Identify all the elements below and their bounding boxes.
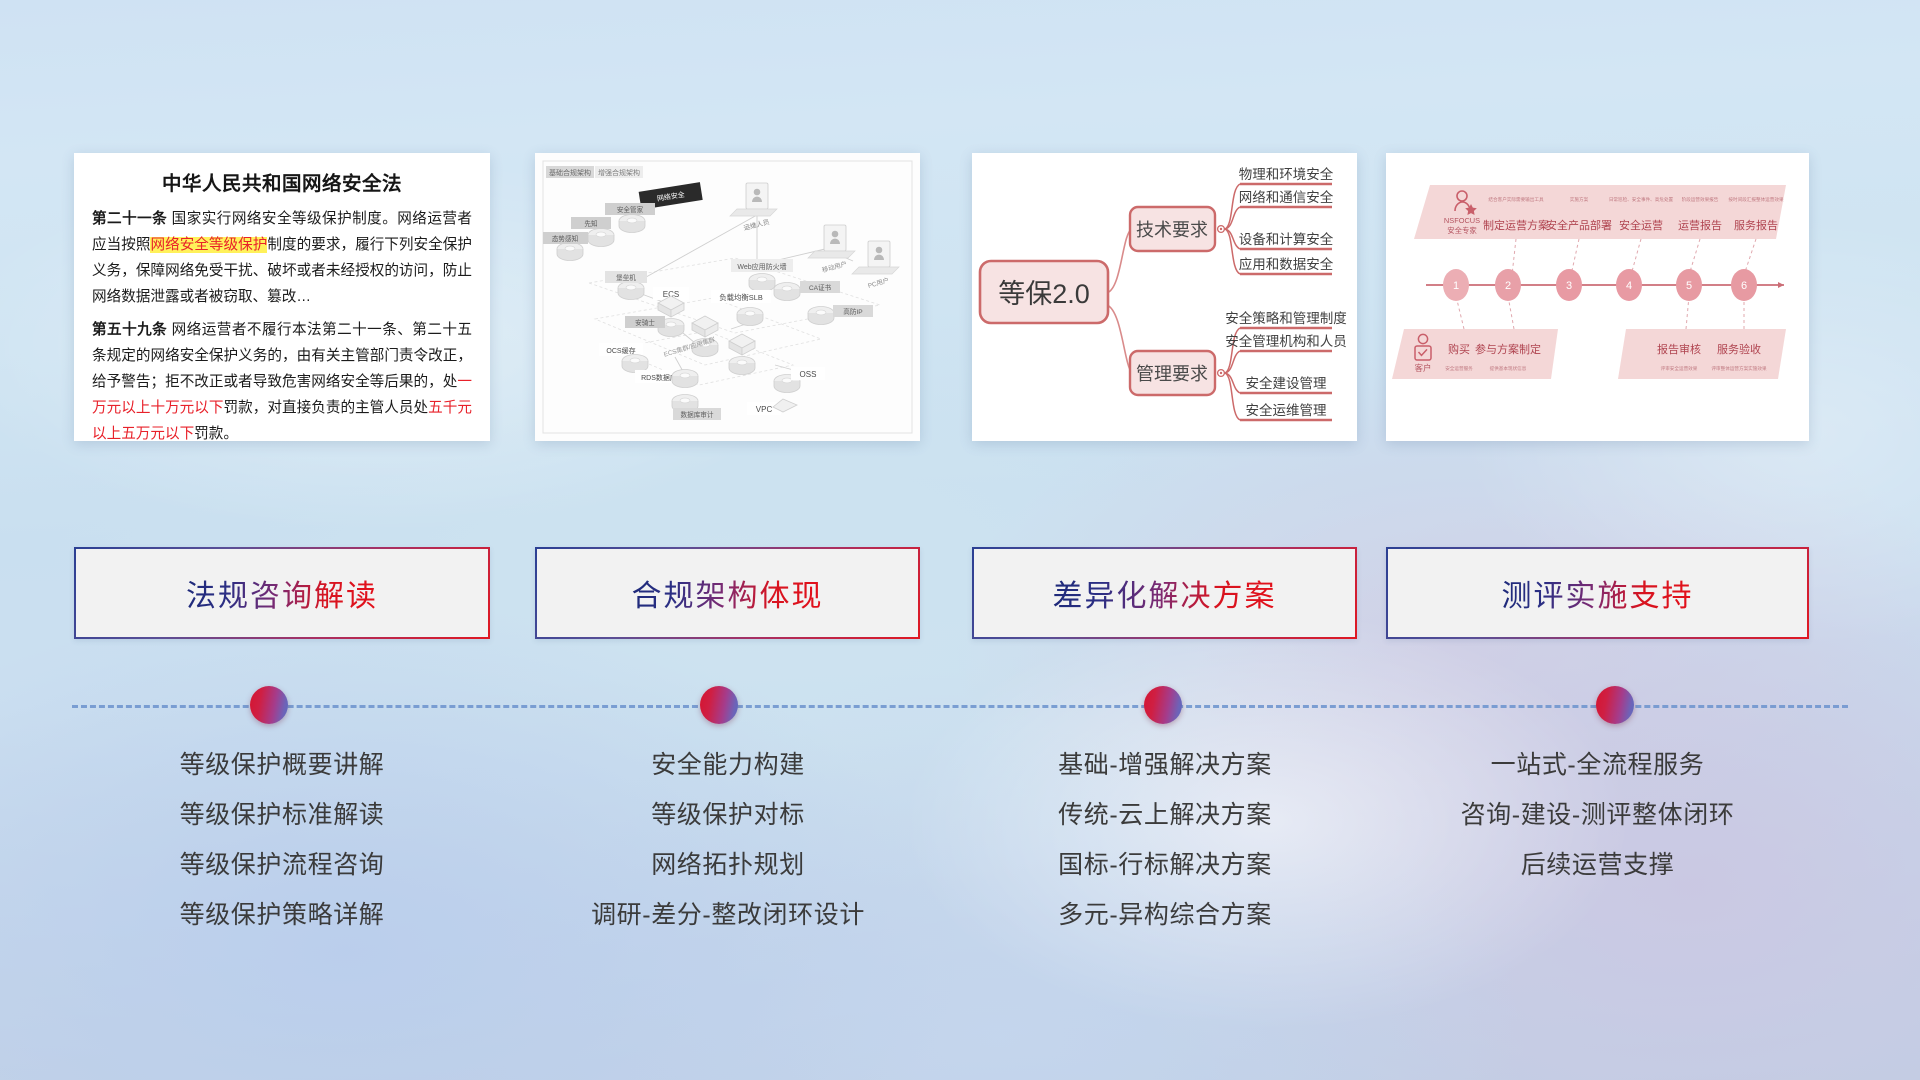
article-59-text-after: 罚款。 xyxy=(194,426,238,441)
list-item: 网络拓扑规划 xyxy=(508,840,948,890)
law-article-59: 第五十九条 网络运营者不履行本法第二十一条、第二十五条规定的网络安全保护义务的，… xyxy=(92,318,472,441)
card-mindmap-dengbao[interactable]: 等保2.0 技术要求 xyxy=(972,153,1357,441)
mindmap-leaf-tech-1: 物理和环境安全 xyxy=(1239,166,1334,182)
process-step5-number: 5 xyxy=(1686,280,1692,292)
mindmap-leaf-tech-2: 网络和通信安全 xyxy=(1239,189,1334,205)
process-step4-sub: 日常巡检、安全事件、高危处置 xyxy=(1609,196,1674,203)
section-titles-row: 法规咨询解读 合规架构体现 差异化解决方案 测评实施支持 xyxy=(0,547,1920,644)
article-21-label: 第二十一条 xyxy=(92,211,167,227)
mindmap-root-label: 等保2.0 xyxy=(998,279,1090,309)
list-item: 后续运营支撑 xyxy=(1386,840,1809,890)
evidence-cards-row: 中华人民共和国网络安全法 第二十一条 国家实行网络安全等级保护制度。网络运营者应… xyxy=(0,153,1920,443)
process-bottom4-sub: 评审整体运营方案实施效果 xyxy=(1711,365,1767,372)
mindmap-leaf-tech-3: 设备和计算安全 xyxy=(1239,231,1334,247)
list-item: 传统-云上解决方案 xyxy=(960,790,1370,840)
title-box-differentiated-solution[interactable]: 差异化解决方案 xyxy=(972,547,1357,639)
list-item: 多元-异构综合方案 xyxy=(960,890,1370,940)
timeline xyxy=(0,683,1920,729)
process-bottom1-title: 购买 xyxy=(1448,342,1470,356)
list-item: 等级保护策略详解 xyxy=(74,890,490,940)
process-diagram: NSFOCUS 安全专家 客户 制定运营方案 安全产品部署 安全运营 运营报告 … xyxy=(1386,153,1809,441)
process-step2-number: 2 xyxy=(1505,280,1511,292)
process-bottom3-sub: 评审安全运营效果 xyxy=(1661,365,1698,372)
feature-list-2: 安全能力构建 等级保护对标 网络拓扑规划 调研-差分-整改闭环设计 xyxy=(508,740,948,940)
process-step6-sub: 按时间段汇报整体运营效果 xyxy=(1728,196,1784,203)
process-step4-title: 安全运营 xyxy=(1619,218,1663,232)
mindmap-leaf-mgmt-2: 安全管理机构和人员 xyxy=(1225,333,1347,349)
timeline-dot-1[interactable] xyxy=(250,686,288,724)
list-item: 等级保护概要讲解 xyxy=(74,740,490,790)
process-step1-number: 1 xyxy=(1453,280,1459,292)
process-bottom3-title: 报告审核 xyxy=(1657,342,1701,356)
mindmap-leaf-mgmt-4: 安全运维管理 xyxy=(1246,402,1327,418)
process-step3-sub: 实施方案 xyxy=(1570,196,1589,203)
mindmap-branch-management-label: 管理要求 xyxy=(1136,364,1208,384)
mindmap-leaf-tech-4: 应用和数据安全 xyxy=(1239,256,1334,272)
title-label-4: 测评实施支持 xyxy=(1502,571,1694,615)
article-59-text-middle: 罚款，对直接负责的主管人员处 xyxy=(224,400,429,416)
process-bottom1-sub: 安全运营服务 xyxy=(1445,365,1473,372)
arch-node-waf: Web应用防火墙 xyxy=(737,262,786,271)
arch-node-security-butler: 安全管家 xyxy=(617,205,644,214)
arch-node-bastion: 堡垒机 xyxy=(616,273,636,282)
mindmap-leaf-mgmt-3: 安全建设管理 xyxy=(1246,375,1327,391)
arch-node-db-audit: 数据库审计 xyxy=(681,410,714,419)
law-article-21: 第二十一条 国家实行网络安全等级保护制度。网络运营者应当按照网络安全等级保护制度… xyxy=(92,207,472,311)
article-21-highlight: 网络安全等级保护 xyxy=(150,237,267,253)
arch-node-slb: 负载均衡SLB xyxy=(719,293,763,302)
law-title: 中华人民共和国网络安全法 xyxy=(92,167,472,196)
list-item: 调研-差分-整改闭环设计 xyxy=(508,890,948,940)
list-item: 等级保护流程咨询 xyxy=(74,840,490,890)
title-box-regulation-consulting[interactable]: 法规咨询解读 xyxy=(74,547,490,639)
process-bottom2-sub: 提供基本现状信息 xyxy=(1490,365,1527,372)
feature-list-4: 一站式-全流程服务 咨询-建设-测评整体闭环 后续运营支撑 xyxy=(1386,740,1809,890)
feature-list-3: 基础-增强解决方案 传统-云上解决方案 国标-行标解决方案 多元-异构综合方案 xyxy=(960,740,1370,940)
feature-lists-row: 等级保护概要讲解 等级保护标准解读 等级保护流程咨询 等级保护策略详解 安全能力… xyxy=(0,740,1920,970)
article-59-label: 第五十九条 xyxy=(92,322,167,338)
process-step3-title: 安全产品部署 xyxy=(1546,218,1612,232)
process-step6-title: 服务报告 xyxy=(1734,218,1778,232)
mindmap-leaf-mgmt-1: 安全策略和管理制度 xyxy=(1225,310,1347,326)
feature-list-1: 等级保护概要讲解 等级保护标准解读 等级保护流程咨询 等级保护策略详解 xyxy=(74,740,490,940)
title-label-3: 差异化解决方案 xyxy=(1053,571,1277,615)
process-step6-number: 6 xyxy=(1741,280,1747,292)
title-label-1: 法规咨询解读 xyxy=(186,571,378,615)
mindmap-branch-technical-label: 技术要求 xyxy=(1136,220,1208,240)
list-item: 咨询-建设-测评整体闭环 xyxy=(1386,790,1809,840)
arch-node-security-agent: 安骑士 xyxy=(635,318,655,327)
process-bottom4-title: 服务验收 xyxy=(1717,342,1761,356)
expert-label-line1: NSFOCUS xyxy=(1444,216,1480,225)
arch-node-prophet: 先知 xyxy=(584,219,597,228)
card-cloud-architecture[interactable]: 基础合规架构 增强合规架构 xyxy=(535,153,920,441)
title-label-2: 合规架构体现 xyxy=(632,571,824,615)
card-cybersecurity-law[interactable]: 中华人民共和国网络安全法 第二十一条 国家实行网络安全等级保护制度。网络运营者应… xyxy=(74,153,490,441)
list-item: 安全能力构建 xyxy=(508,740,948,790)
arch-node-anti-ddos-ip: 高防IP xyxy=(843,307,863,316)
arch-node-situational-awareness: 态势感知 xyxy=(552,234,578,243)
process-step4-number: 4 xyxy=(1626,280,1632,292)
customer-label: 客户 xyxy=(1415,363,1432,373)
timeline-dot-2[interactable] xyxy=(700,686,738,724)
arch-node-ocs-cache: OCS缓存 xyxy=(606,346,635,355)
process-step2-sub: 结合客户实际需要输出工具 xyxy=(1488,196,1544,203)
list-item: 国标-行标解决方案 xyxy=(960,840,1370,890)
list-item: 等级保护对标 xyxy=(508,790,948,840)
timeline-dot-3[interactable] xyxy=(1144,686,1182,724)
process-bottom2-title: 参与方案制定 xyxy=(1475,342,1541,356)
arch-node-vpc: VPC xyxy=(756,405,773,414)
process-step2-title: 制定运营方案 xyxy=(1483,218,1549,232)
architecture-diagram: 基础合规架构 增强合规架构 xyxy=(535,153,920,441)
process-step5-title: 运营报告 xyxy=(1678,218,1722,232)
process-step3-number: 3 xyxy=(1566,280,1572,292)
mindmap-diagram: 等保2.0 技术要求 xyxy=(972,153,1357,441)
list-item: 等级保护标准解读 xyxy=(74,790,490,840)
arch-tab-enhanced[interactable]: 增强合规架构 xyxy=(598,168,640,177)
arch-node-rds: RDS数据库 xyxy=(641,373,677,382)
process-step5-sub: 阶段运营效果报告 xyxy=(1682,196,1719,203)
list-item: 一站式-全流程服务 xyxy=(1386,740,1809,790)
slide-canvas: 中华人民共和国网络安全法 第二十一条 国家实行网络安全等级保护制度。网络运营者应… xyxy=(0,0,1920,1080)
timeline-dot-4[interactable] xyxy=(1596,686,1634,724)
expert-label-line2: 安全专家 xyxy=(1447,226,1477,235)
arch-node-oss: OSS xyxy=(800,370,817,379)
arch-tab-basic[interactable]: 基础合规架构 xyxy=(549,168,591,177)
card-service-process[interactable]: NSFOCUS 安全专家 客户 制定运营方案 安全产品部署 安全运营 运营报告 … xyxy=(1386,153,1809,441)
title-box-assessment-support[interactable]: 测评实施支持 xyxy=(1386,547,1809,639)
list-item: 基础-增强解决方案 xyxy=(960,740,1370,790)
title-box-compliance-architecture[interactable]: 合规架构体现 xyxy=(535,547,920,639)
timeline-dashed-line xyxy=(72,705,1848,708)
arch-node-ca-cert: CA证书 xyxy=(809,283,832,292)
